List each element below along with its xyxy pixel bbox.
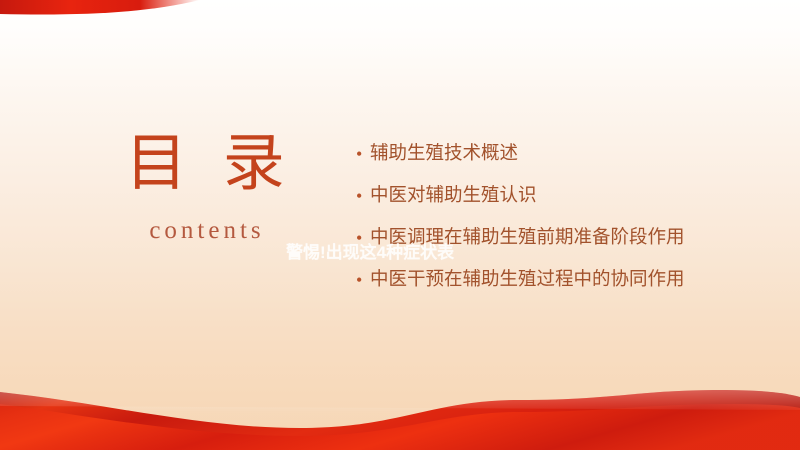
wave-back-layer xyxy=(0,390,800,450)
wave-front-layer xyxy=(0,404,800,450)
bullet-icon: • xyxy=(356,266,370,295)
list-item-label: 辅助生殖技术概述 xyxy=(370,140,720,170)
bullet-icon: • xyxy=(356,182,370,211)
bullet-icon: • xyxy=(356,224,370,253)
top-ribbon-decoration xyxy=(0,0,240,26)
list-item-label: 中医对辅助生殖认识 xyxy=(370,182,720,212)
page-title-cn: 目 录 xyxy=(90,132,320,197)
list-item-label: 中医干预在辅助生殖过程中的协同作用 xyxy=(370,266,720,296)
list-item[interactable]: • 辅助生殖技术概述 xyxy=(356,140,720,170)
list-item[interactable]: • 中医干预在辅助生殖过程中的协同作用 xyxy=(356,266,720,296)
page-title-en: contents xyxy=(90,217,320,245)
bottom-wave-decoration xyxy=(0,370,800,450)
presentation-slide: 目 录 contents • 辅助生殖技术概述 • 中医对辅助生殖认识 • 中医… xyxy=(0,0,800,450)
bottom-wave-svg xyxy=(0,370,800,450)
toc-heading-block: 目 录 contents xyxy=(90,132,320,245)
list-item[interactable]: • 中医调理在辅助生殖前期准备阶段作用 xyxy=(356,224,720,254)
list-item[interactable]: • 中医对辅助生殖认识 xyxy=(356,182,720,212)
toc-list: • 辅助生殖技术概述 • 中医对辅助生殖认识 • 中医调理在辅助生殖前期准备阶段… xyxy=(356,140,720,308)
top-ribbon-svg xyxy=(0,0,240,26)
list-item-label: 中医调理在辅助生殖前期准备阶段作用 xyxy=(370,224,720,254)
wave-highlight-layer xyxy=(0,390,800,428)
bullet-icon: • xyxy=(356,140,370,169)
